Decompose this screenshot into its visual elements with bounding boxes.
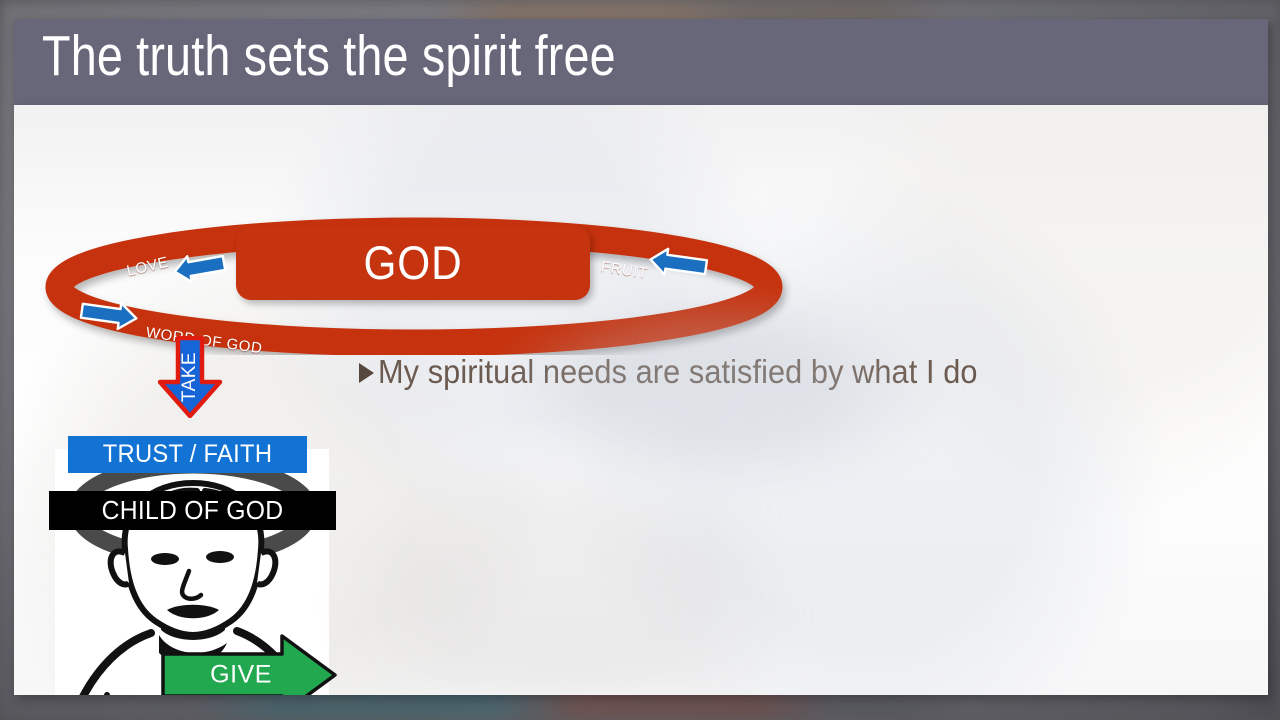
slide-body: LOVE FRUIT WORD OF GOD GOD TAKE	[14, 105, 1268, 695]
bullet-text: My spiritual needs are satisfied by what…	[378, 353, 978, 391]
take-label: TAKE	[179, 352, 201, 402]
trust-faith-bar: TRUST / FAITH	[68, 436, 307, 473]
give-arrow: GIVE	[160, 633, 338, 695]
triangle-bullet-icon	[359, 363, 374, 383]
slide-title-bar: The truth sets the spirit free	[14, 19, 1268, 105]
trust-faith-label: TRUST / FAITH	[74, 436, 301, 473]
god-box: GOD	[236, 226, 590, 300]
give-label: GIVE	[182, 661, 300, 690]
cycle-diagram: LOVE FRUIT WORD OF GOD GOD	[14, 105, 814, 355]
god-label: GOD	[254, 226, 573, 300]
left-eye	[151, 553, 179, 565]
right-eye	[206, 551, 234, 563]
child-of-god-label: CHILD OF GOD	[56, 491, 329, 530]
bullet-row: My spiritual needs are satisfied by what…	[359, 353, 1023, 391]
take-arrow: TAKE	[157, 336, 223, 418]
child-of-god-bar: CHILD OF GOD	[49, 491, 336, 530]
slide-stage: The truth sets the spirit free	[0, 0, 1280, 720]
page-title: The truth sets the spirit free	[42, 13, 616, 99]
left-shoulder	[59, 633, 151, 695]
